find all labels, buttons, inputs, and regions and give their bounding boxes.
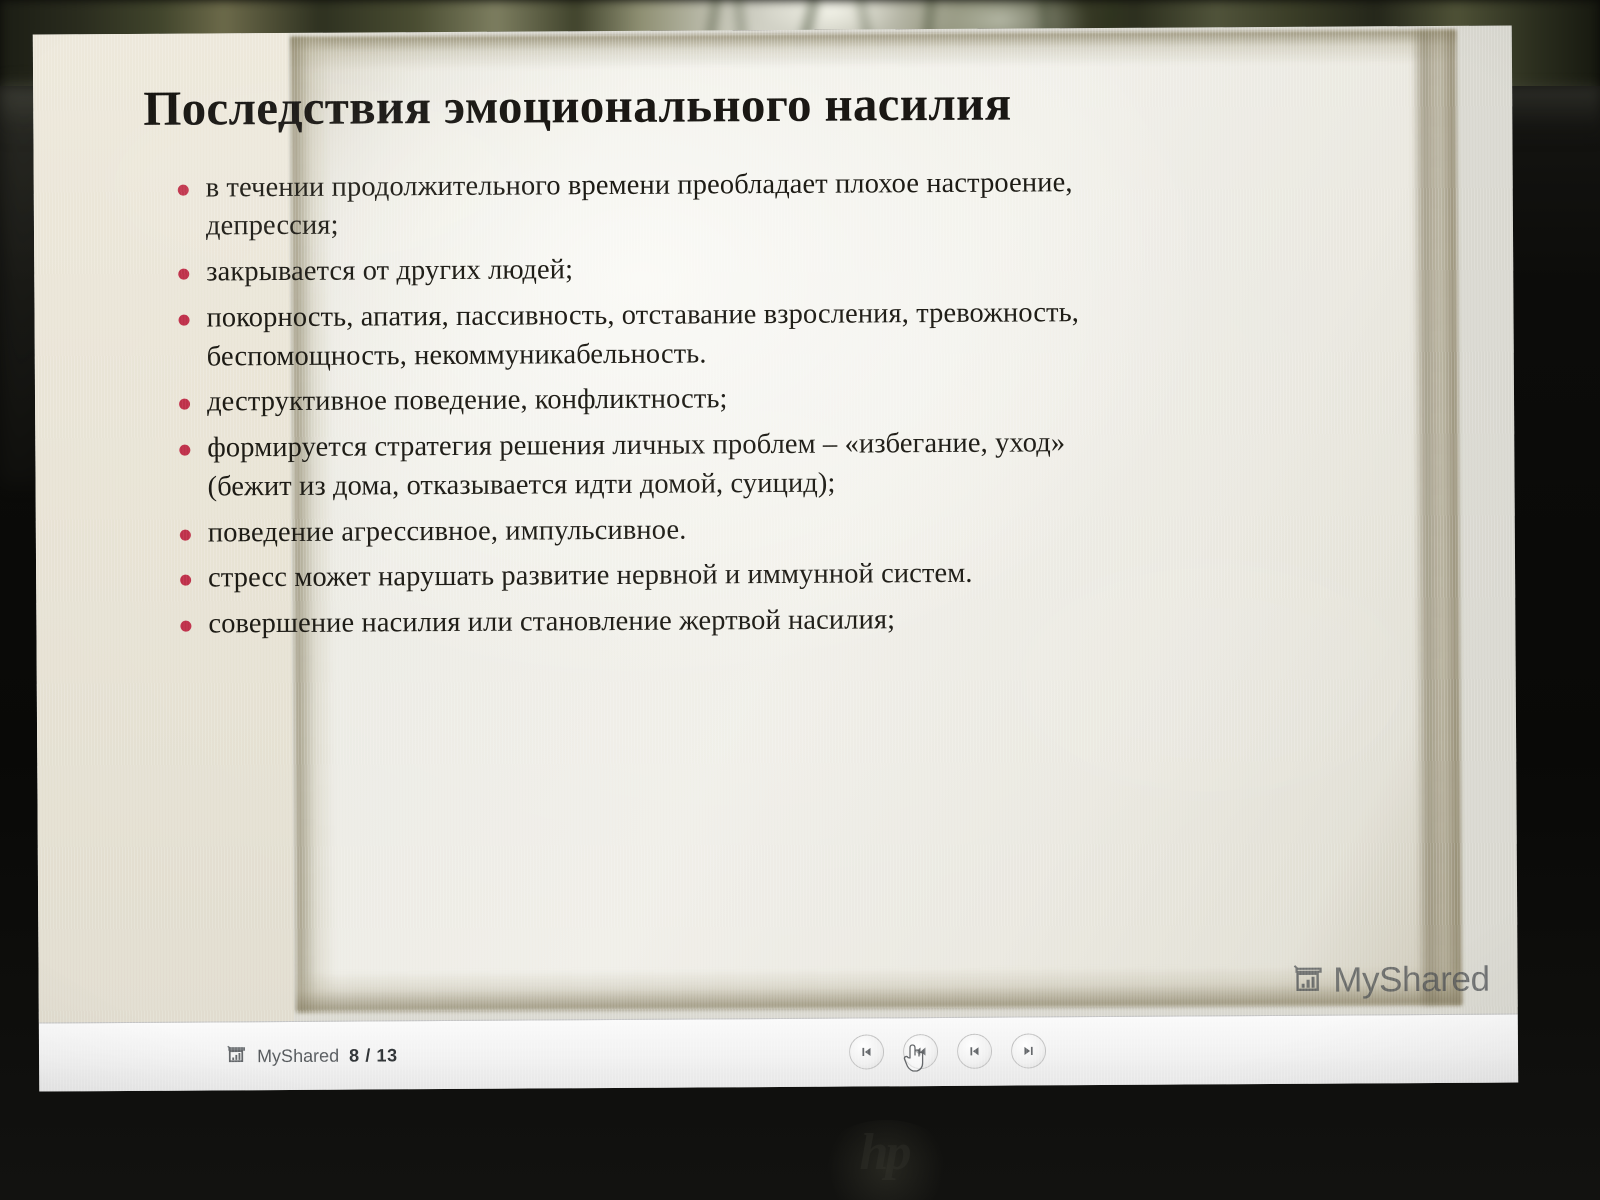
player-controls: [849, 1033, 1046, 1069]
bullet-item: формируется стратегия решения личных про…: [177, 424, 1145, 507]
page-indicator: 8 / 13: [349, 1045, 398, 1066]
hand-pointer-cursor: [901, 1042, 927, 1074]
bullet-item: в течении продолжительного времени преоб…: [176, 163, 1144, 246]
first-slide-button[interactable]: [849, 1034, 884, 1069]
player-brand-label: MyShared: [257, 1046, 339, 1068]
bullet-item: совершение насилия или становление жертв…: [178, 600, 1146, 645]
slide-bullet-list: в течении продолжительного времени преоб…: [134, 163, 1147, 644]
bullet-item: покорность, апатия, пассивность, отстава…: [176, 294, 1144, 377]
slide-title: Последствия эмоционального насилия: [143, 68, 1043, 143]
bullet-item: деструктивное поведение, конфликтность;: [177, 378, 1145, 423]
hp-logo: hp: [845, 1128, 923, 1182]
player-toolbar: MyShared 8 / 13: [39, 1013, 1518, 1091]
presentation-chart-icon: [1290, 962, 1324, 999]
play-pause-button[interactable]: [957, 1034, 992, 1069]
myshared-watermark: MyShared: [1290, 960, 1490, 1001]
slide-content: Последствия эмоционального насилия в теч…: [133, 44, 1149, 990]
next-slide-button[interactable]: [1011, 1033, 1046, 1068]
presentation-slide: Последствия эмоционального насилия в теч…: [33, 25, 1518, 1022]
watermark-label: MyShared: [1333, 960, 1490, 1001]
monitor-screen: Последствия эмоционального насилия в теч…: [33, 25, 1518, 1091]
photo-of-monitor: Последствия эмоционального насилия в теч…: [0, 0, 1600, 1200]
bullet-item: поведение агрессивное, импульсивное.: [178, 508, 1146, 553]
presentation-chart-icon: [225, 1044, 247, 1069]
player-brand-group: MyShared 8 / 13: [225, 1043, 398, 1069]
bullet-item: стресс может нарушать развитие нервной и…: [178, 554, 1146, 599]
bullet-item: закрывается от других людей;: [176, 248, 1144, 293]
